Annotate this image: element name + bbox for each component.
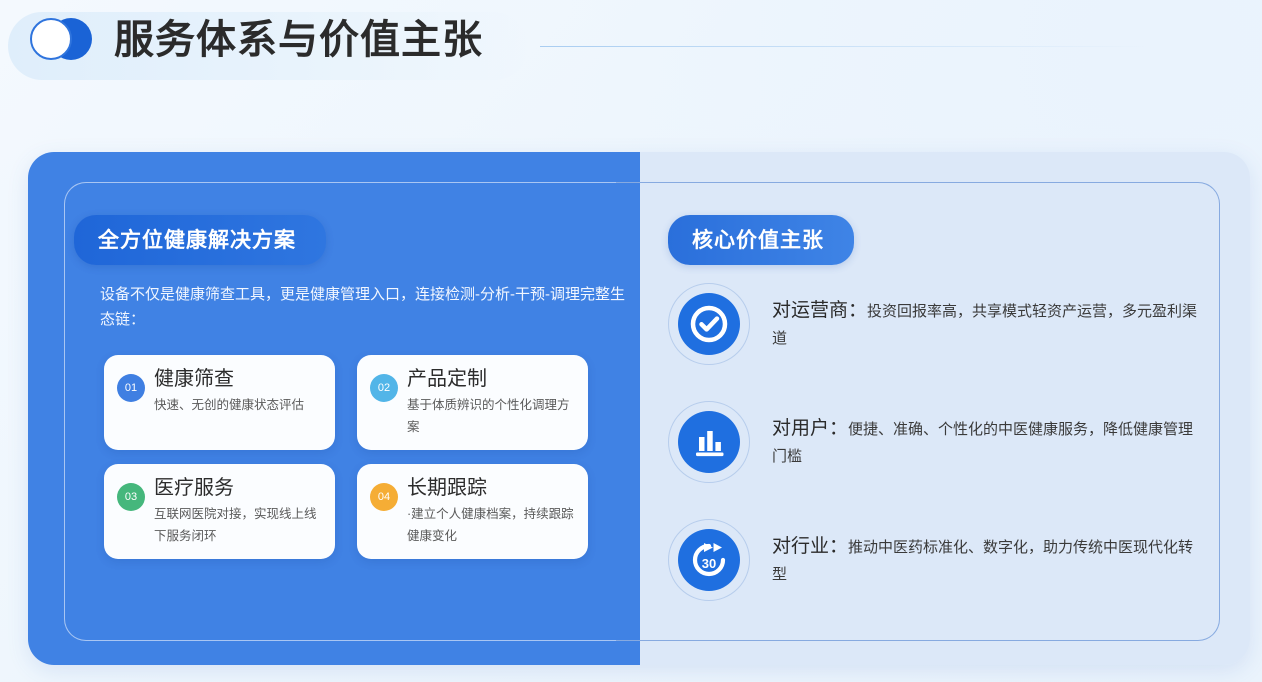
- value-list: 对运营商：投资回报率高，共享模式轻资产运营，多元盈利渠道 对用户：便捷、准确、个…: [668, 283, 1198, 637]
- feature-card[interactable]: 02 产品定制 基于体质辨识的个性化调理方案: [357, 355, 588, 450]
- left-intro-text: 设备不仅是健康筛查工具，更是健康管理入口，连接检测-分析-干预-调理完整生态链：: [100, 282, 625, 332]
- feature-card[interactable]: 04 长期跟踪 ·建立个人健康档案，持续跟踪健康变化: [357, 464, 588, 559]
- check-circle-icon: [678, 293, 740, 355]
- feature-card-desc: 互联网医院对接，实现线上线下服务闭环: [154, 503, 322, 547]
- feature-card[interactable]: 03 医疗服务 互联网医院对接，实现线上线下服务闭环: [104, 464, 335, 559]
- feature-card-title: 健康筛查: [154, 367, 322, 392]
- right-section-pill: 核心价值主张: [668, 215, 854, 265]
- value-text: 对运营商：投资回报率高，共享模式轻资产运营，多元盈利渠道: [772, 283, 1198, 352]
- value-item: 对用户：便捷、准确、个性化的中医健康服务，降低健康管理门槛: [668, 401, 1198, 483]
- header-divider-line: [540, 46, 1150, 47]
- value-label: 对运营商：: [772, 300, 867, 321]
- forward-30-icon: 30: [678, 529, 740, 591]
- feature-card[interactable]: 01 健康筛查 快速、无创的健康状态评估: [104, 355, 335, 450]
- value-icon-ring: 30: [668, 519, 750, 601]
- value-icon-ring: [668, 401, 750, 483]
- feature-card-grid: 01 健康筛查 快速、无创的健康状态评估 02 产品定制 基于体质辨识的个性化调…: [104, 355, 594, 559]
- page-header: 服务体系与价值主张: [0, 0, 1262, 110]
- page-title: 服务体系与价值主张: [114, 18, 483, 62]
- feature-card-badge: 04: [370, 483, 398, 511]
- value-item: 对运营商：投资回报率高，共享模式轻资产运营，多元盈利渠道: [668, 283, 1198, 365]
- value-item: 30 对行业：推动中医药标准化、数字化，助力传统中医现代化转型: [668, 519, 1198, 601]
- feature-card-title: 产品定制: [407, 367, 575, 392]
- value-text: 对用户：便捷、准确、个性化的中医健康服务，降低健康管理门槛: [772, 401, 1198, 470]
- feature-card-title: 医疗服务: [154, 476, 322, 501]
- bar-chart-icon: [678, 411, 740, 473]
- header-row: 服务体系与价值主张: [30, 18, 483, 62]
- value-label: 对行业：: [772, 536, 848, 557]
- left-section-pill: 全方位健康解决方案: [74, 215, 326, 265]
- feature-card-body: 长期跟踪 ·建立个人健康档案，持续跟踪健康变化: [407, 476, 575, 559]
- svg-text:30: 30: [702, 556, 716, 571]
- feature-card-badge: 01: [117, 374, 145, 402]
- feature-card-desc: 快速、无创的健康状态评估: [154, 394, 322, 416]
- feature-card-body: 产品定制 基于体质辨识的个性化调理方案: [407, 367, 575, 450]
- feature-card-body: 健康筛查 快速、无创的健康状态评估: [154, 367, 322, 450]
- feature-card-body: 医疗服务 互联网医院对接，实现线上线下服务闭环: [154, 476, 322, 559]
- toggle-icon-white-circle: [30, 18, 72, 60]
- feature-card-badge: 03: [117, 483, 145, 511]
- feature-card-desc: ·建立个人健康档案，持续跟踪健康变化: [407, 503, 575, 547]
- feature-card-badge: 02: [370, 374, 398, 402]
- toggle-on-icon: [30, 18, 92, 62]
- value-text: 对行业：推动中医药标准化、数字化，助力传统中医现代化转型: [772, 519, 1198, 588]
- value-label: 对用户：: [772, 418, 848, 439]
- value-icon-ring: [668, 283, 750, 365]
- feature-card-title: 长期跟踪: [407, 476, 575, 501]
- feature-card-desc: 基于体质辨识的个性化调理方案: [407, 394, 575, 438]
